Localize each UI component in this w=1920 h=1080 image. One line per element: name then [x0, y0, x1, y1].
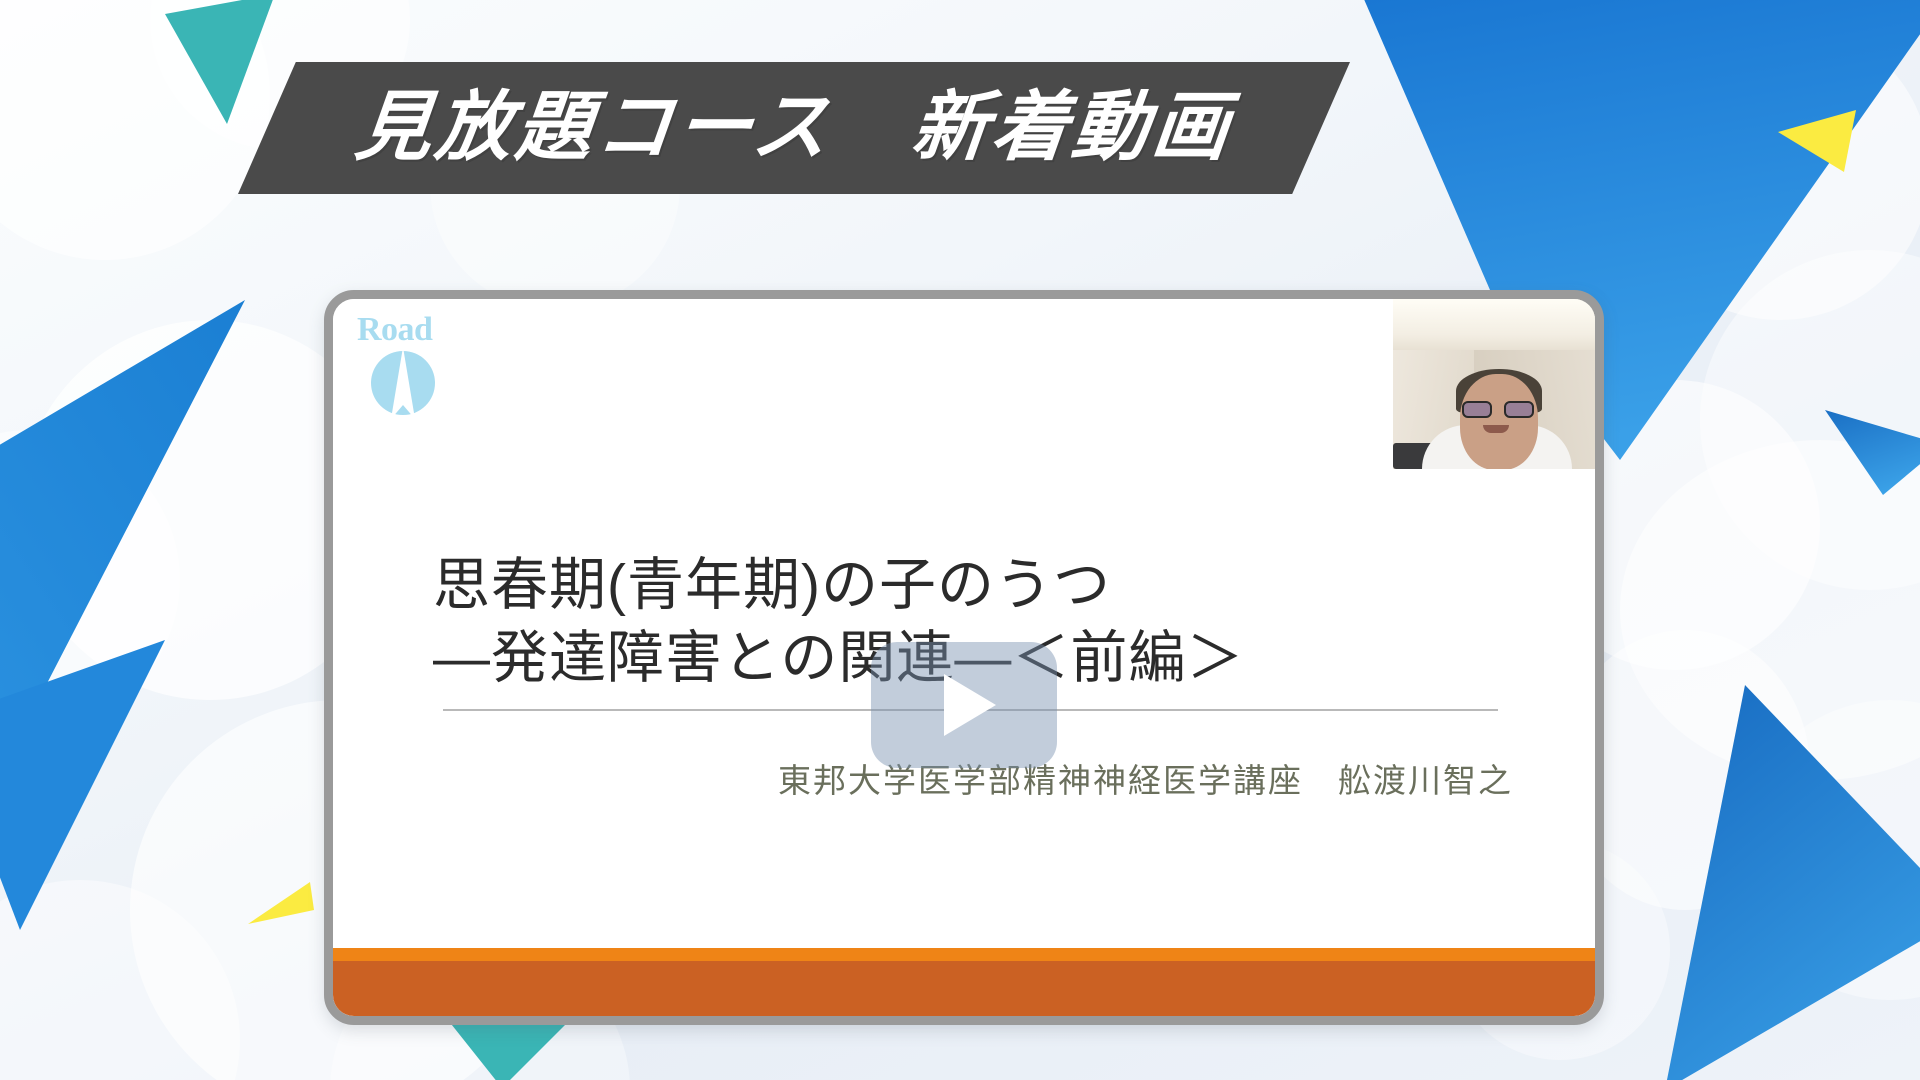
bokeh-circle: [1740, 700, 1920, 1000]
presenter-webcam: [1393, 299, 1595, 469]
slide-title-line-2: ―発達障害との関連―＜前編＞: [433, 626, 1244, 690]
bokeh-circle: [1700, 250, 1920, 590]
player-progress-bar[interactable]: [333, 948, 1595, 1016]
decor-blue-triangle-bottom-left: [0, 640, 210, 940]
decor-blue-triangle-left: [0, 300, 300, 760]
bokeh-circle: [0, 0, 270, 260]
bokeh-circle: [1620, 440, 1920, 780]
play-button[interactable]: [871, 642, 1057, 768]
decor-teal-triangle-top-left: [155, 0, 285, 130]
decor-blue-triangle-bottom-right: [1590, 660, 1920, 1080]
decor-blue-triangle-mid-right: [1825, 405, 1920, 515]
player-progress-accent: [333, 948, 1595, 961]
bokeh-circle: [1630, 20, 1920, 320]
webcam-presenter-glasses: [1462, 401, 1534, 418]
slide-surface: Road 思春期(青年期)の子のうつ―発達障害との関連―＜前編＞ 東邦大学医学部…: [333, 299, 1595, 1016]
webcam-ceiling: [1393, 299, 1595, 350]
slide-title-line-1: 思春期(青年期)の子のうつ: [433, 553, 1111, 617]
headline-banner: 見放題コース 新着動画: [238, 62, 1350, 194]
road-arrow-circle-icon: [367, 347, 439, 419]
bokeh-circle: [0, 430, 180, 730]
headline-banner-label: 見放題コース 新着動画: [352, 90, 1236, 166]
video-player-card[interactable]: Road 思春期(青年期)の子のうつ―発達障害との関連―＜前編＞ 東邦大学医学部…: [324, 290, 1604, 1025]
webcam-presenter-face: [1460, 374, 1538, 469]
slide-canvas: 見放題コース 新着動画 Road 思春期(青年期)の子のうつ―発達障害との関連―…: [0, 0, 1920, 1080]
webcam-presenter-mouth: [1483, 425, 1509, 433]
decor-yellow-triangle-bottom-left: [248, 880, 326, 936]
play-triangle-icon: [944, 674, 996, 736]
road-logo: Road: [355, 311, 465, 431]
road-logo-wordmark: Road: [357, 311, 432, 349]
decor-yellow-triangle-top-right: [1778, 110, 1868, 188]
bokeh-circle: [0, 880, 240, 1080]
